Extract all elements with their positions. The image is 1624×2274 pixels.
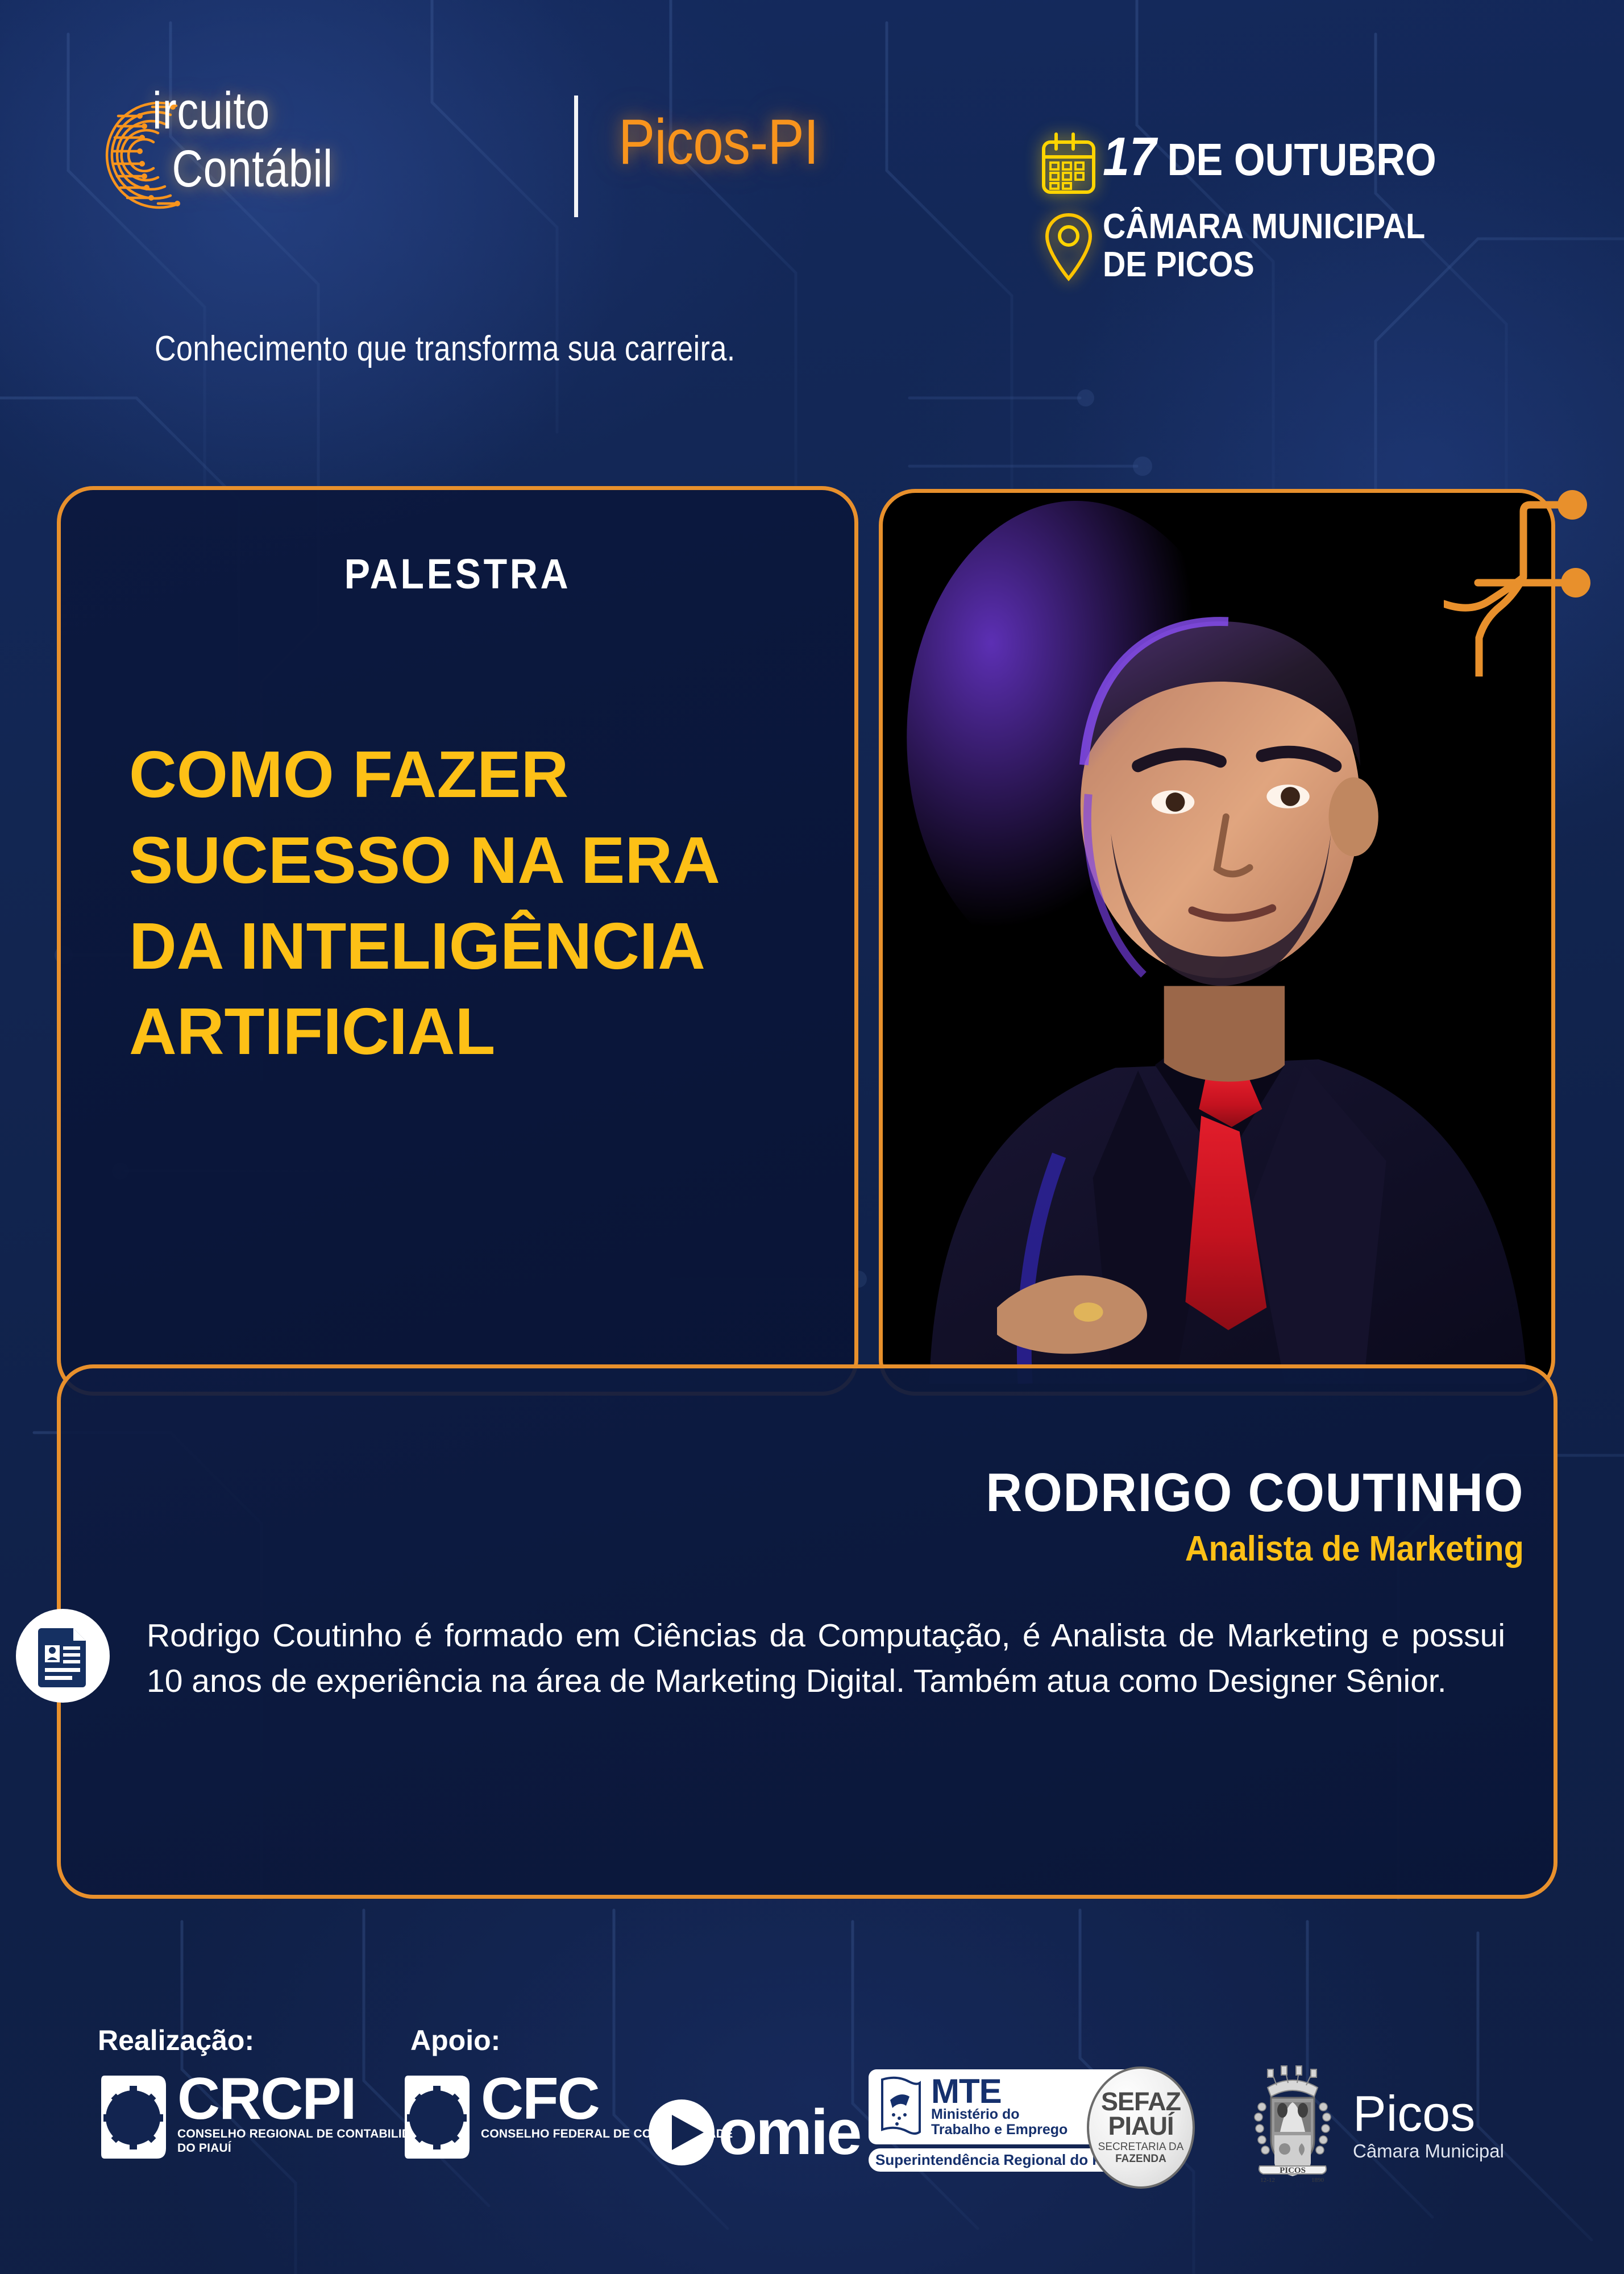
cfc-emblem-icon xyxy=(405,2072,475,2162)
speaker-role: Analista de Marketing xyxy=(1185,1529,1524,1569)
crcpi-sub-2: DO PIAUÍ xyxy=(177,2141,436,2156)
event-venue-row: CÂMARA MUNICIPAL DE PICOS xyxy=(1035,208,1580,284)
picos-wordmark: Picos xyxy=(1353,2090,1504,2138)
apoio-label: Apoio: xyxy=(410,2024,500,2057)
talk-title: COMO FAZER SUCESSO NA ERA DA INTELIGÊNCI… xyxy=(129,732,811,1074)
brand-line-2: Contábil xyxy=(152,143,506,194)
crcpi-wordmark: CRCPI xyxy=(177,2072,436,2127)
picos-sub-1: Câmara Municipal xyxy=(1353,2142,1504,2160)
brand-logo: ircuito Contábil xyxy=(85,85,585,256)
mte-sub-2: Trabalho e Emprego xyxy=(931,2122,1068,2138)
sefaz-sub-1: SECRETARIA DA xyxy=(1098,2142,1184,2153)
logo-omie: omie xyxy=(647,2098,860,2167)
omie-play-icon xyxy=(647,2098,716,2167)
talk-kicker: PALESTRA xyxy=(93,550,823,598)
speaker-bio: Rodrigo Coutinho é formado em Ciências d… xyxy=(147,1613,1505,1704)
sefaz-word-1: SEFAZ xyxy=(1101,2090,1181,2114)
poster-header: ircuito Contábil Picos-PI Conhecimento q… xyxy=(0,0,1624,398)
picos-coat-of-arms-icon: PICOS 12-12 1890 xyxy=(1245,2065,1340,2185)
sefaz-oval: SEFAZ PIAUÍ SECRETARIA DA FAZENDA xyxy=(1087,2066,1195,2189)
event-poster: ircuito Contábil Picos-PI Conhecimento q… xyxy=(0,0,1624,2274)
brand-wordmark: ircuito Contábil xyxy=(152,85,584,194)
sefaz-word-2: PIAUÍ xyxy=(1108,2114,1173,2138)
event-date-month: DE OUTUBRO xyxy=(1156,134,1436,185)
tagline: Conhecimento que transforma sua carreira… xyxy=(155,329,736,369)
crc-emblem-icon xyxy=(101,2072,172,2162)
svg-text:1890: 1890 xyxy=(1311,2177,1324,2184)
map-pin-icon xyxy=(1035,208,1103,283)
mte-flag-icon xyxy=(878,2075,924,2139)
realizacao-label: Realização: xyxy=(98,2024,254,2057)
event-date-row: 17 DE OUTUBRO xyxy=(1035,130,1580,198)
venue-line-1: CÂMARA MUNICIPAL xyxy=(1103,208,1532,246)
sefaz-sub-2: FAZENDA xyxy=(1115,2153,1166,2165)
omie-wordmark: omie xyxy=(718,2101,860,2164)
event-meta: 17 DE OUTUBRO CÂMARA MUNICIPAL DE PICOS xyxy=(1035,130,1580,294)
logo-sefaz: SEFAZ PIAUÍ SECRETARIA DA FAZENDA xyxy=(1087,2066,1195,2189)
talk-card: PALESTRA COMO FAZER SUCESSO NA ERA DA IN… xyxy=(57,486,858,1396)
mte-wordmark: MTE xyxy=(931,2076,1068,2107)
city-label: Picos-PI xyxy=(618,105,819,179)
svg-text:12-12: 12-12 xyxy=(1260,2177,1275,2184)
logo-crcpi: CRCPI CONSELHO REGIONAL DE CONTABILIDADE… xyxy=(101,2072,436,2162)
mte-sub-1: Ministério do xyxy=(931,2107,1068,2123)
brand-divider xyxy=(574,96,578,217)
event-date-text: 17 DE OUTUBRO xyxy=(1103,130,1580,184)
event-venue-text: CÂMARA MUNICIPAL DE PICOS xyxy=(1103,208,1580,284)
calendar-icon xyxy=(1035,130,1103,198)
event-date: 17 DE OUTUBRO xyxy=(1103,130,1523,184)
venue-line-2: DE PICOS xyxy=(1103,246,1532,284)
circuit-decoration-icon xyxy=(1444,472,1624,677)
svg-text:PICOS: PICOS xyxy=(1280,2166,1306,2175)
event-date-day: 17 xyxy=(1103,126,1156,187)
logo-picos-camara: PICOS 12-12 1890 Picos Câmara Municipal xyxy=(1245,2065,1504,2185)
brand-line-1: ircuito xyxy=(152,85,506,136)
crcpi-sub-1: CONSELHO REGIONAL DE CONTABILIDADE xyxy=(177,2127,436,2142)
speaker-name: RODRIGO COUTINHO xyxy=(986,1462,1524,1524)
resume-document-icon xyxy=(16,1609,110,1703)
